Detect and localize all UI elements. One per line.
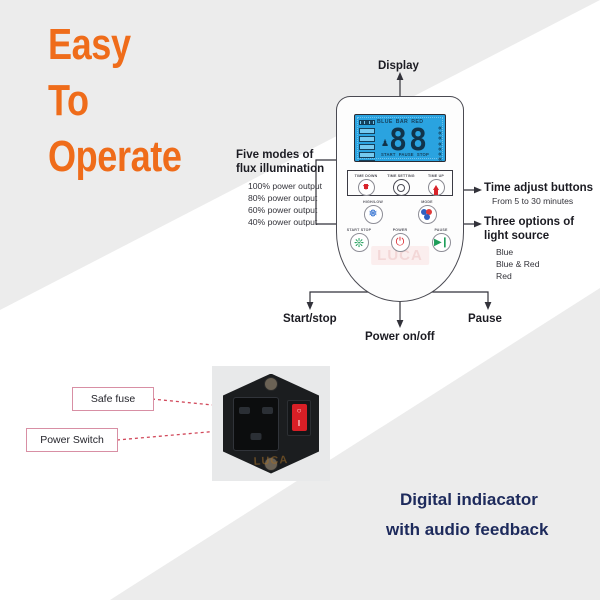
flux-item-80: 80% power output	[248, 192, 364, 204]
light-item-blue-red: Blue & Red	[496, 258, 600, 270]
rocker-off-symbol: I	[298, 420, 300, 428]
screw-top-icon	[264, 377, 278, 391]
person-icon: ♟	[381, 139, 389, 148]
flux-item-100: 100% power output	[248, 180, 364, 192]
light-title-line1: Three options of	[484, 215, 600, 229]
rocker-on-symbol: ○	[297, 407, 302, 415]
bottom-tagline-line1: Digital indiacator	[400, 485, 600, 515]
power-button[interactable]: POWER ⏻	[385, 228, 415, 252]
pause-icon: ▶❙	[432, 233, 451, 252]
flux-item-40: 40% power output	[248, 216, 364, 228]
flux-title-line1: Five modes of	[236, 148, 364, 162]
lcd-chevron-indicators: «««« «««	[438, 126, 442, 162]
time-up-label: TIME UP	[422, 174, 450, 178]
callout-start-stop: Start/stop	[283, 313, 337, 325]
infographic-canvas: Easy To Operate	[0, 0, 600, 600]
callout-power-onoff: Power on/off	[365, 331, 435, 343]
page-title: Easy To Operate	[48, 24, 211, 191]
time-setting-icon	[393, 179, 410, 196]
rocker-face: ○ I	[292, 404, 307, 431]
callout-display: Display	[378, 60, 419, 72]
flux-item-60: 60% power output	[248, 204, 364, 216]
pause-label: PAUSE	[426, 228, 456, 232]
start-stop-button[interactable]: START STOP ❊	[344, 228, 374, 252]
power-icon: ⏻	[391, 233, 410, 252]
light-title-line2: light source	[484, 229, 600, 243]
lcd-label-stop: STOP	[417, 152, 429, 157]
tag-safe-fuse: Safe fuse	[72, 387, 154, 411]
pause-button[interactable]: PAUSE ▶❙	[426, 228, 456, 252]
bottom-tagline-line2: with audio feedback	[386, 515, 600, 545]
headline-line-2: To	[48, 80, 181, 122]
callout-pause: Pause	[468, 313, 502, 325]
flux-icon: ❅	[364, 205, 383, 224]
tag-safe-fuse-label: Safe fuse	[91, 393, 135, 405]
bottom-tagline: Digital indiacator with audio feedback	[400, 485, 600, 545]
power-inlet-photo: ○ I LUCA	[212, 366, 330, 481]
power-label: POWER	[385, 228, 415, 232]
photo-watermark: LUCA	[253, 454, 288, 468]
time-setting-button[interactable]: TIME SETTING	[387, 174, 415, 196]
light-item-red: Red	[496, 270, 600, 282]
lcd-status-labels: START PAUSE STOP	[381, 152, 429, 157]
lcd-label-start: START	[381, 152, 396, 157]
rocker-switch[interactable]: ○ I	[287, 400, 311, 436]
time-setting-label: TIME SETTING	[387, 174, 415, 178]
callout-flux-modes: Five modes of flux illumination 100% pow…	[236, 148, 364, 228]
time-up-icon	[428, 179, 445, 196]
tag-power-switch: Power Switch	[26, 428, 118, 452]
light-source-button[interactable]: MODE	[412, 200, 442, 224]
headline-line-3: Operate	[48, 136, 181, 178]
start-stop-label: START STOP	[344, 228, 374, 232]
iec-inlet	[233, 397, 279, 451]
start-stop-icon: ❊	[350, 233, 369, 252]
callout-light-source: Three options of light source Blue Blue …	[484, 215, 600, 282]
time-adjust-title: Time adjust buttons	[484, 181, 600, 195]
headline-line-1: Easy	[48, 24, 181, 66]
lcd-label-pause: PAUSE	[399, 152, 414, 157]
color-mode-icon	[418, 205, 437, 224]
light-source-label: MODE	[412, 200, 442, 204]
callout-time-adjust: Time adjust buttons From 5 to 30 minutes	[484, 181, 600, 207]
flux-title-line2: flux illumination	[236, 162, 364, 176]
time-adjust-sub: From 5 to 30 minutes	[492, 195, 600, 207]
time-up-button[interactable]: TIME UP	[422, 174, 450, 196]
light-item-blue: Blue	[496, 246, 600, 258]
tag-power-switch-label: Power Switch	[40, 434, 104, 446]
battery-icon	[359, 120, 375, 125]
lcd-display: BLUE BAR RED ♟ 88 «««« ««« START PAUSE S…	[354, 114, 446, 162]
